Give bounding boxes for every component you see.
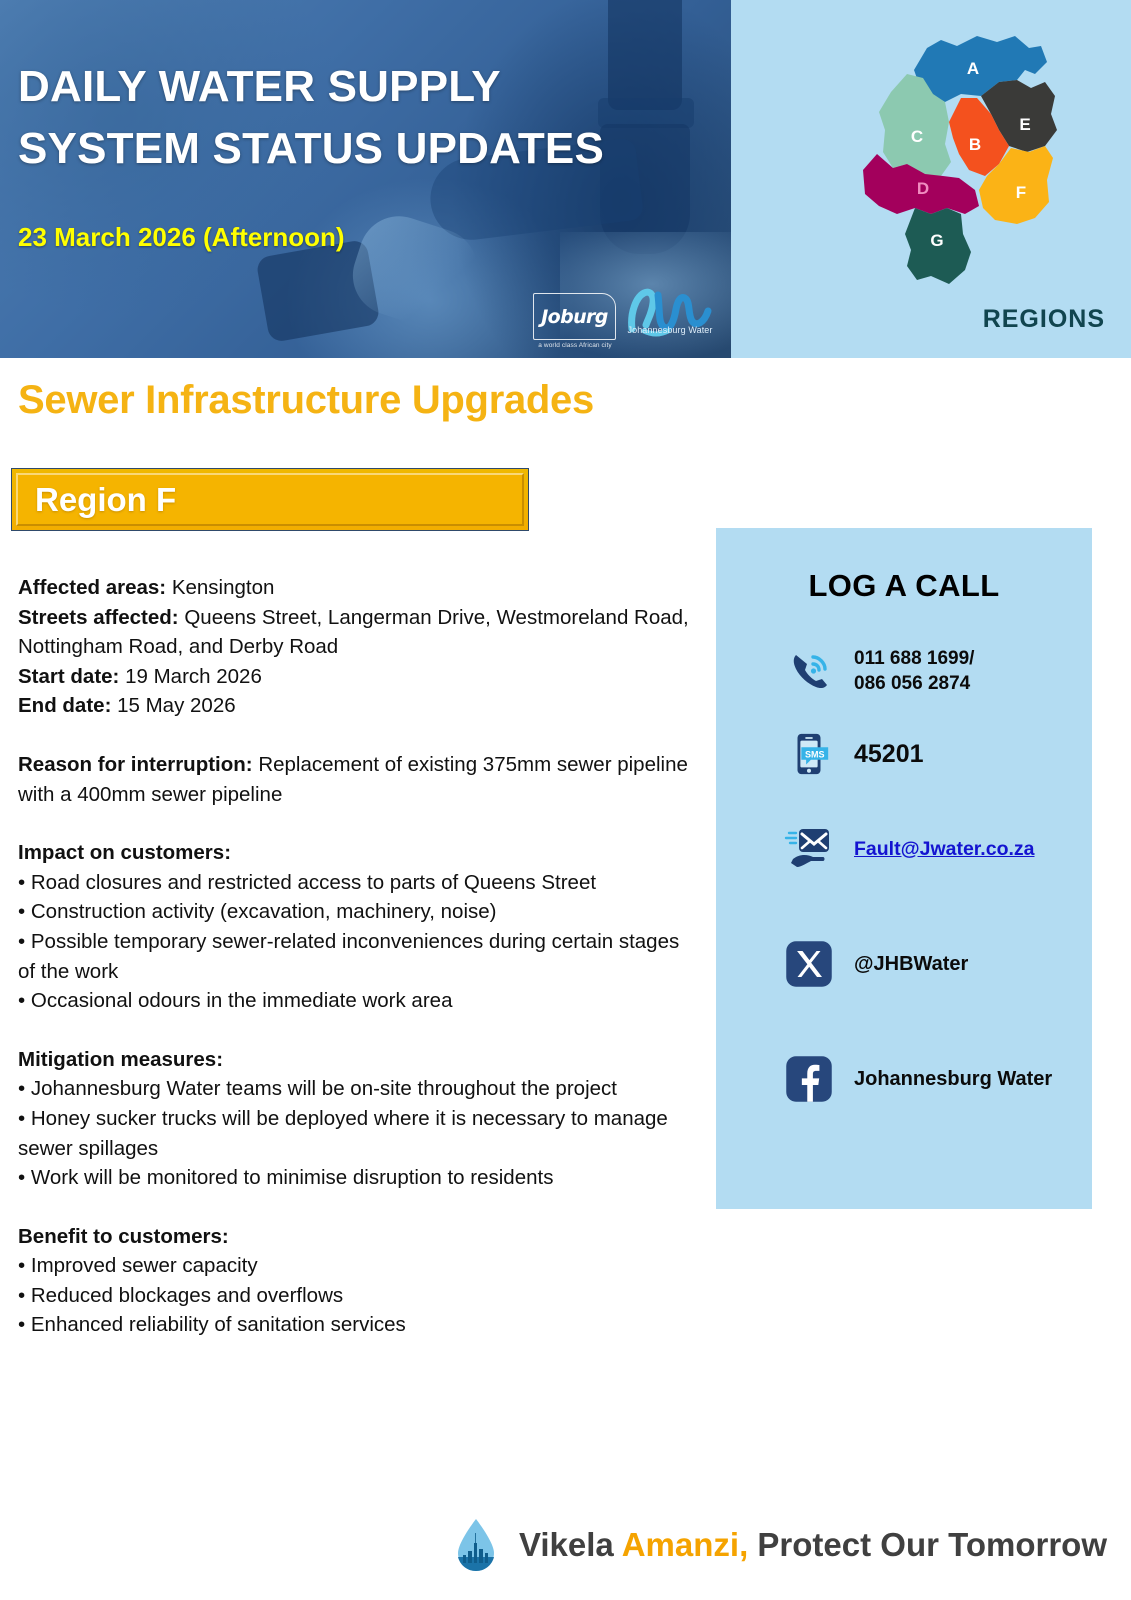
region-G-label: G	[930, 231, 943, 250]
mitigation-item-text: Johannesburg Water teams will be on-site…	[31, 1077, 617, 1100]
contact-row-facebook[interactable]: Johannesburg Water	[778, 1048, 1052, 1110]
sms-phone-icon: SMS	[778, 723, 840, 785]
reason-label: Reason for interruption:	[18, 753, 253, 776]
contact-row-phone[interactable]: 011 688 1699/ 086 056 2874	[778, 640, 974, 702]
benefit-label: Benefit to customers:	[18, 1225, 229, 1248]
header-banner: DAILY WATER SUPPLY SYSTEM STATUS UPDATES…	[0, 0, 731, 358]
end-date-label: End date:	[18, 694, 111, 717]
phone-icon	[778, 640, 840, 702]
impact-item: • Construction activity (excavation, mac…	[18, 897, 694, 927]
benefit-item: • Improved sewer capacity	[18, 1251, 694, 1281]
start-date-value: 19 March 2026	[125, 665, 262, 688]
page-header: DAILY WATER SUPPLY SYSTEM STATUS UPDATES…	[0, 0, 1131, 358]
log-a-call-panel: LOG A CALL 011 688 1699/ 086 056 2874 SM…	[716, 528, 1092, 1209]
x-twitter-icon	[778, 933, 840, 995]
region-A-label: A	[967, 59, 979, 78]
regions-caption: REGIONS	[731, 305, 1105, 334]
report-date: 23 March 2026 (Afternoon)	[18, 222, 345, 253]
mitigation-item: • Johannesburg Water teams will be on-si…	[18, 1074, 694, 1104]
benefit-heading: Benefit to customers:	[18, 1222, 694, 1252]
page-title-line2: SYSTEM STATUS UPDATES	[18, 118, 718, 180]
email-address-link[interactable]: Fault@Jwater.co.za	[854, 837, 1035, 862]
facebook-icon	[778, 1048, 840, 1110]
footer-tagline-amanzi: Amanzi,	[622, 1526, 749, 1563]
mitigation-item-text: Work will be monitored to minimise disru…	[31, 1166, 554, 1189]
region-F-label: F	[1016, 183, 1026, 202]
footer-tagline-part1: Vikela	[519, 1526, 622, 1563]
footer-tagline: Vikela Amanzi, Protect Our Tomorrow	[519, 1526, 1107, 1564]
sms-number: 45201	[854, 742, 924, 767]
page-title-line1: DAILY WATER SUPPLY	[18, 56, 718, 118]
end-date-value: 15 May 2026	[117, 694, 236, 717]
spacer	[18, 721, 694, 750]
joburg-logo: Joburg	[533, 293, 616, 340]
benefit-item: • Reduced blockages and overflows	[18, 1281, 694, 1311]
phone-numbers: 011 688 1699/ 086 056 2874	[854, 646, 974, 696]
region-D-label: D	[917, 179, 929, 198]
phone-number-2: 086 056 2874	[854, 671, 974, 696]
contact-row-email[interactable]: Fault@Jwater.co.za	[778, 818, 1035, 880]
contact-row-sms[interactable]: SMS 45201	[778, 723, 924, 785]
benefit-item-text: Enhanced reliability of sanitation servi…	[31, 1313, 406, 1336]
page-footer: Vikela Amanzi, Protect Our Tomorrow	[0, 1490, 1131, 1600]
impact-item: • Possible temporary sewer-related incon…	[18, 927, 694, 986]
benefit-item-text: Improved sewer capacity	[31, 1254, 258, 1277]
email-icon	[778, 818, 840, 880]
spacer	[18, 1016, 694, 1045]
twitter-handle: @JHBWater	[854, 952, 968, 977]
affected-areas-label: Affected areas:	[18, 576, 166, 599]
joburg-logo-tagline: a world class African city	[529, 342, 621, 349]
affected-areas-line: Affected areas: Kensington	[18, 573, 694, 603]
benefit-item-text: Reduced blockages and overflows	[31, 1284, 343, 1307]
mitigation-heading: Mitigation measures:	[18, 1045, 694, 1075]
spacer	[18, 1193, 694, 1222]
contact-row-twitter[interactable]: @JHBWater	[778, 933, 968, 995]
mitigation-item: • Work will be monitored to minimise dis…	[18, 1163, 694, 1193]
impact-label: Impact on customers:	[18, 841, 231, 864]
region-badge: Region F	[11, 468, 529, 531]
region-C-label: C	[911, 127, 923, 146]
start-date-label: Start date:	[18, 665, 119, 688]
benefit-item: • Enhanced reliability of sanitation ser…	[18, 1310, 694, 1340]
impact-item-text: Road closures and restricted access to p…	[31, 871, 596, 894]
mitigation-label: Mitigation measures:	[18, 1048, 223, 1071]
water-drop-city-icon	[455, 1517, 497, 1573]
regions-map-panel: A E C B F D G REGIONS	[731, 0, 1131, 358]
region-badge-label: Region F	[18, 481, 176, 519]
streets-affected-label: Streets affected:	[18, 606, 179, 629]
section-title: Sewer Infrastructure Upgrades	[18, 378, 594, 423]
region-E-label: E	[1019, 115, 1030, 134]
interruption-details: Affected areas: Kensington Streets affec…	[18, 573, 694, 1340]
impact-item: • Road closures and restricted access to…	[18, 868, 694, 898]
page-title: DAILY WATER SUPPLY SYSTEM STATUS UPDATES	[18, 56, 718, 181]
joburg-logo-text: Joburg	[541, 306, 608, 328]
region-B-label: B	[969, 135, 981, 154]
facebook-page-name: Johannesburg Water	[854, 1067, 1052, 1092]
mitigation-item-text: Honey sucker trucks will be deployed whe…	[18, 1107, 668, 1160]
affected-areas-value: Kensington	[172, 576, 275, 599]
johannesburg-regions-map: A E C B F D G	[849, 18, 1111, 308]
start-date-line: Start date: 19 March 2026	[18, 662, 694, 692]
end-date-line: End date: 15 May 2026	[18, 691, 694, 721]
mitigation-item: • Honey sucker trucks will be deployed w…	[18, 1104, 694, 1163]
streets-affected-line: Streets affected: Queens Street, Langerm…	[18, 603, 694, 662]
johannesburg-water-logo-text: Johannesburg Water	[620, 325, 720, 335]
impact-item-text: Occasional odours in the immediate work …	[31, 989, 453, 1012]
log-a-call-title: LOG A CALL	[716, 568, 1092, 604]
reason-line: Reason for interruption: Replacement of …	[18, 750, 694, 809]
impact-item: • Occasional odours in the immediate wor…	[18, 986, 694, 1016]
impact-item-text: Construction activity (excavation, machi…	[31, 900, 497, 923]
footer-tagline-part2: Protect Our Tomorrow	[748, 1526, 1107, 1563]
phone-number-1: 011 688 1699/	[854, 646, 974, 671]
spacer	[18, 809, 694, 838]
region-badge-inner: Region F	[16, 473, 524, 526]
impact-item-text: Possible temporary sewer-related inconve…	[18, 930, 679, 983]
impact-heading: Impact on customers:	[18, 838, 694, 868]
sms-badge-label: SMS	[805, 749, 825, 759]
